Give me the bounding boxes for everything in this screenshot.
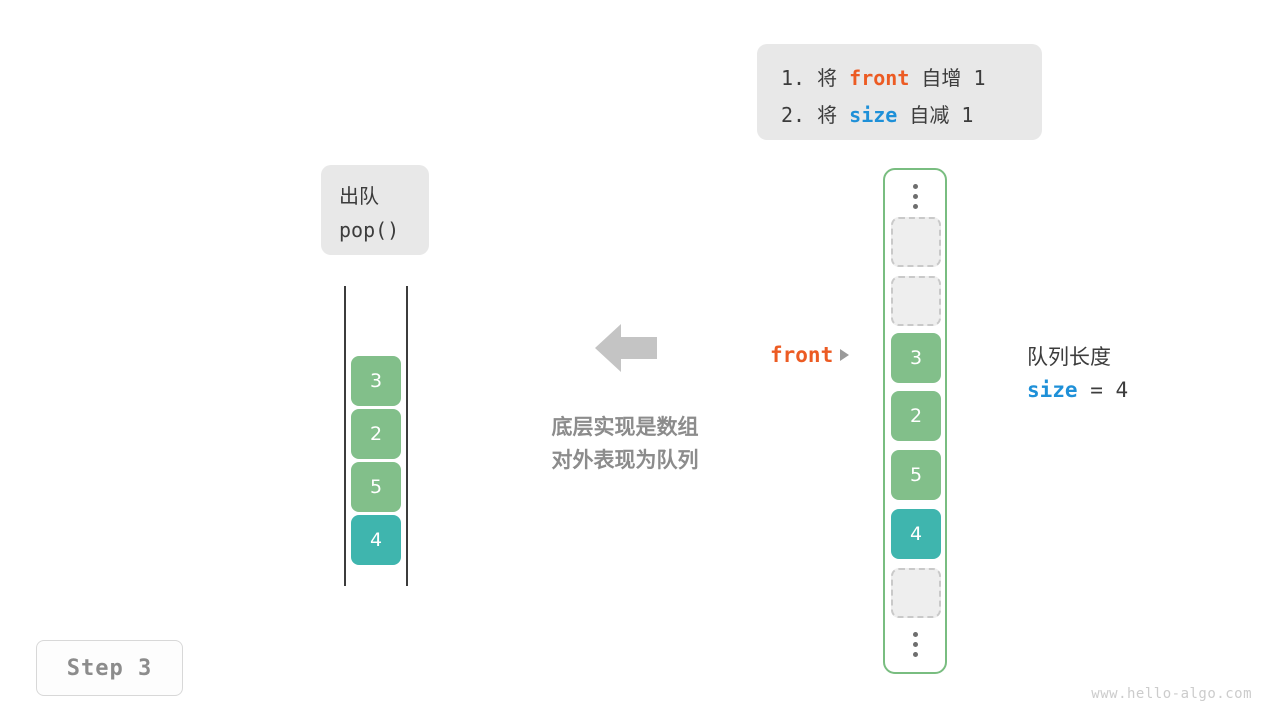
queue-cell: 5 <box>351 462 401 512</box>
center-caption-line-2: 对外表现为队列 <box>529 444 721 477</box>
queue-rail-right <box>406 286 408 586</box>
queue-cell: 3 <box>351 356 401 406</box>
instruction-line-1-prefix: 1. 将 <box>781 66 849 90</box>
size-variable-name: size <box>1027 378 1078 402</box>
queue-cell: 2 <box>351 409 401 459</box>
instruction-line-2: 2. 将 size 自减 1 <box>781 97 1018 134</box>
instruction-line-1-keyword: front <box>849 66 909 90</box>
array-cell: 2 <box>891 391 941 441</box>
queue-rail-left <box>344 286 346 586</box>
size-annotation: 队列长度 size = 4 <box>1027 341 1128 407</box>
instruction-line-1-suffix: 自增 1 <box>909 66 985 90</box>
queue-view: 3 2 5 4 <box>344 286 408 586</box>
array-cell-empty <box>891 217 941 267</box>
size-annotation-expression: size = 4 <box>1027 373 1128 407</box>
instruction-line-2-keyword: size <box>849 103 897 127</box>
front-pointer: front <box>770 343 849 367</box>
step-badge-label: Step 3 <box>67 656 152 681</box>
instruction-line-2-suffix: 自减 1 <box>897 103 973 127</box>
queue-cell: 4 <box>351 515 401 565</box>
center-caption: 底层实现是数组 对外表现为队列 <box>529 411 721 477</box>
array-cell: 5 <box>891 450 941 500</box>
center-caption-line-1: 底层实现是数组 <box>529 411 721 444</box>
array-cell: 3 <box>891 333 941 383</box>
array-cell-empty <box>891 568 941 618</box>
operation-method: pop() <box>339 213 429 247</box>
instruction-line-2-prefix: 2. 将 <box>781 103 849 127</box>
watermark: www.hello-algo.com <box>1091 686 1252 702</box>
instruction-line-1: 1. 将 front 自增 1 <box>781 60 1018 97</box>
instruction-callout: 1. 将 front 自增 1 2. 将 size 自减 1 <box>757 44 1042 140</box>
array-view: 3 2 5 4 <box>883 168 947 674</box>
flow-arrow-left-icon <box>595 322 657 374</box>
ellipsis-top-icon <box>885 184 945 209</box>
size-annotation-title: 队列长度 <box>1027 341 1128 373</box>
step-badge: Step 3 <box>36 640 183 696</box>
front-pointer-label: front <box>770 343 833 367</box>
size-equals: = <box>1078 378 1116 402</box>
operation-title: 出队 <box>339 179 429 213</box>
array-cell-empty <box>891 276 941 326</box>
operation-label-box: 出队 pop() <box>321 165 429 255</box>
caret-right-icon <box>840 349 849 361</box>
ellipsis-bottom-icon <box>885 632 945 657</box>
size-value: 4 <box>1116 378 1129 402</box>
array-cell: 4 <box>891 509 941 559</box>
